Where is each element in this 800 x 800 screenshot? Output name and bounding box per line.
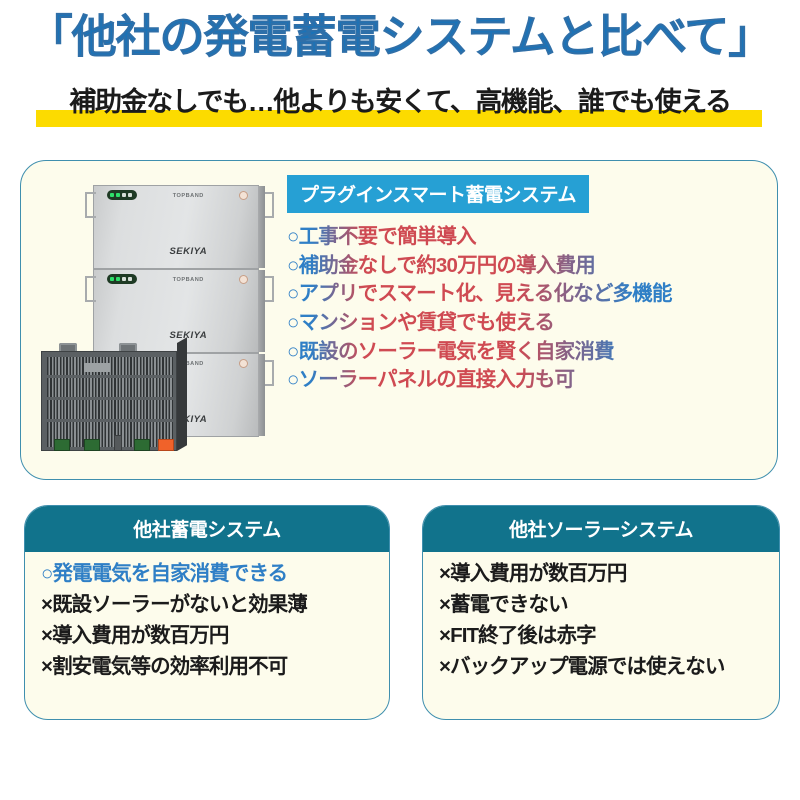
battery-side-panel: [258, 186, 265, 268]
comparison-item: ×割安電気等の効率利用不可: [41, 651, 383, 682]
dc-port-icon: [54, 439, 70, 451]
comparison-card-battery: 他社蓄電システム ○発電電気を自家消費できる ×既設ソーラーがないと効果薄 ×導…: [24, 505, 390, 720]
ac-port-icon: [134, 439, 150, 451]
inverter-unit: [41, 343, 189, 455]
battery-logo-label: SEKIYA: [169, 246, 207, 257]
feature-item: ○工事不要で簡単導入: [287, 223, 765, 252]
feature-badge: プラグインスマート蓄電システム: [287, 175, 589, 213]
inverter-side-edge: [177, 337, 187, 451]
inverter-heatsink-fins: [47, 357, 173, 447]
power-knob-icon: [239, 275, 248, 284]
inverter-body: [41, 351, 177, 451]
header: 「他社の発電蓄電システムと比べて」 補助金なしでも…他よりも安くて、高機能、誰で…: [0, 0, 800, 140]
grid-port-icon: [158, 439, 174, 451]
page-title: 「他社の発電蓄電システムと比べて」: [0, 14, 800, 59]
bracket-left-icon: [85, 192, 96, 218]
inverter-nameplate: [84, 363, 110, 372]
feature-item: ○アプリでスマート化、見える化など多機能: [287, 280, 765, 309]
power-knob-icon: [239, 359, 248, 368]
battery-module-1: TOPBAND SEKIYA: [93, 185, 259, 269]
antenna-port-icon: [114, 435, 122, 451]
battery-brand-label: TOPBAND: [173, 193, 204, 199]
battery-logo-label: SEKIYA: [169, 330, 207, 341]
comparison-card-title: 他社ソーラーシステム: [422, 505, 780, 552]
dc-port-icon: [84, 439, 100, 451]
power-knob-icon: [239, 191, 248, 200]
comparison-item: ×バックアップ電源では使えない: [439, 651, 773, 682]
comparison-item: ×導入費用が数百万円: [439, 558, 773, 589]
page-subtitle: 補助金なしでも…他よりも安くて、高機能、誰でも使える: [0, 86, 800, 120]
battery-module-2: TOPBAND SEKIYA: [93, 269, 259, 353]
comparison-item: ×導入費用が数百万円: [41, 620, 383, 651]
comparison-card-title: 他社蓄電システム: [24, 505, 390, 552]
product-photo: TOPBAND SEKIYA TOPBAND SEKIYA TOPBAND SE…: [33, 167, 283, 473]
comparison-list: ○発電電気を自家消費できる ×既設ソーラーがないと効果薄 ×導入費用が数百万円 …: [41, 558, 383, 683]
battery-side-panel: [258, 354, 265, 436]
battery-brand-label: TOPBAND: [173, 277, 204, 283]
comparison-item: ×蓄電できない: [439, 589, 773, 620]
feature-column: プラグインスマート蓄電システム ○工事不要で簡単導入 ○補助金なしで約30万円の…: [287, 175, 765, 467]
feature-list: ○工事不要で簡単導入 ○補助金なしで約30万円の導入費用 ○アプリでスマート化、…: [287, 223, 765, 395]
subtitle-block: 補助金なしでも…他よりも安くて、高機能、誰でも使える: [0, 86, 800, 132]
main-product-card: TOPBAND SEKIYA TOPBAND SEKIYA TOPBAND SE…: [20, 160, 778, 480]
status-led-indicator: [107, 274, 137, 284]
feature-item: ○補助金なしで約30万円の導入費用: [287, 252, 765, 281]
bracket-left-icon: [85, 276, 96, 302]
feature-item: ○既設のソーラー電気を賢く自家消費: [287, 338, 765, 367]
status-led-indicator: [107, 190, 137, 200]
feature-item: ○マンションや賃貸でも使える: [287, 309, 765, 338]
comparison-list: ×導入費用が数百万円 ×蓄電できない ×FIT終了後は赤字 ×バックアップ電源で…: [439, 558, 773, 683]
battery-side-panel: [258, 270, 265, 352]
comparison-card-solar: 他社ソーラーシステム ×導入費用が数百万円 ×蓄電できない ×FIT終了後は赤字…: [422, 505, 780, 720]
comparison-item: ○発電電気を自家消費できる: [41, 558, 383, 589]
comparison-item: ×既設ソーラーがないと効果薄: [41, 589, 383, 620]
comparison-item: ×FIT終了後は赤字: [439, 620, 773, 651]
feature-item: ○ソーラーパネルの直接入力も可: [287, 366, 765, 395]
